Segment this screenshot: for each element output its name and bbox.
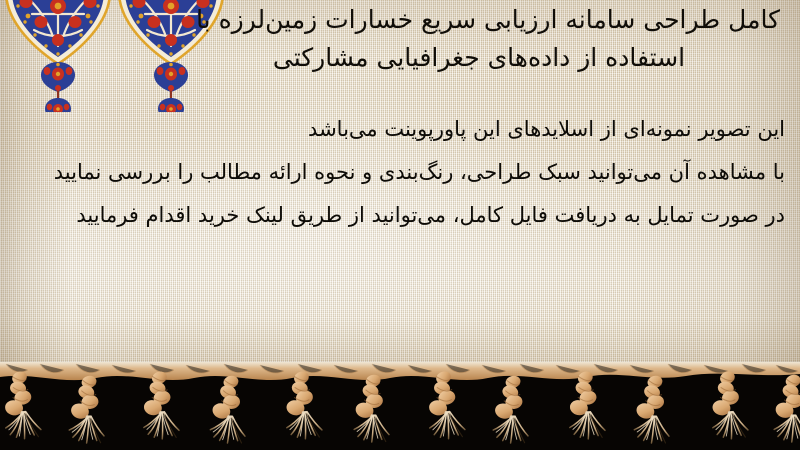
tassel [709, 369, 748, 440]
title-line-1: کامل طراحی سامانه ارزیابی سریع خسارات زم… [226, 1, 786, 39]
slide-text-layer: کامل طراحی سامانه ارزیابی سریع خسارات زم… [0, 0, 800, 378]
tassel [492, 373, 531, 444]
body-line-1: این تصویر نمونه‌ای از اسلایدهای این پاور… [13, 108, 785, 151]
slide-canvas: کامل طراحی سامانه ارزیابی سریع خسارات زم… [0, 0, 800, 450]
fringe-svg [0, 362, 800, 450]
slide-title: کامل طراحی سامانه ارزیابی سریع خسارات زم… [226, 1, 786, 77]
tassel [68, 373, 107, 444]
tassel [633, 373, 674, 445]
slide-body: این تصویر نمونه‌ای از اسلایدهای این پاور… [13, 108, 785, 237]
tassel [567, 369, 605, 439]
body-line-3: در صورت تمایل به دریافت فایل کامل، می‌تو… [13, 194, 785, 237]
tassel [209, 373, 250, 445]
tassel [283, 369, 322, 440]
body-line-2: با مشاهده آن می‌توانید سبک طراحی، رنگ‌بن… [13, 151, 785, 194]
tassel [773, 372, 800, 442]
carpet-fringe [0, 362, 800, 450]
tassel [353, 372, 391, 442]
fringe-tassels [1, 368, 800, 444]
title-line-2: استفاده از داده‌های جغرافیایی مشارکتی [226, 39, 786, 77]
tassel [1, 368, 42, 440]
